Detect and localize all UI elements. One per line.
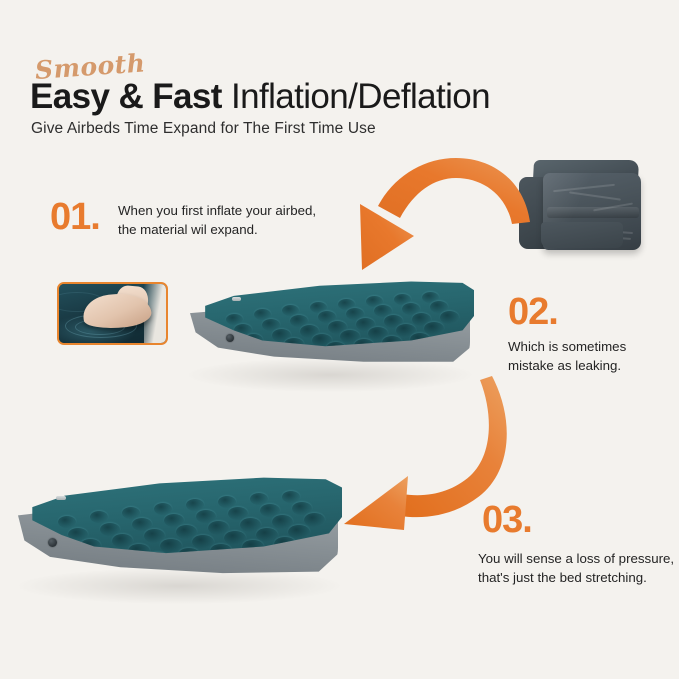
step-text-01: When you first inflate your airbed, the … [118,201,338,239]
airbed-valve [48,538,57,547]
bundle-crease [569,191,621,200]
step-number-02: 02. [508,293,558,331]
arrow-shaft [400,376,507,517]
airbed-valve [226,334,234,342]
arrow-step-02-to-03 [336,372,536,532]
folded-airbed-bundle [519,160,643,257]
airbed-shadow [18,568,340,604]
airbed-label-tag [232,297,241,301]
arrow-head [344,476,408,530]
page-title: Easy & Fast Inflation/Deflation [30,76,490,118]
bundle-crease [553,184,615,192]
airbed-label-tag [56,496,66,500]
airbed-bottom [8,468,348,604]
step-text-03: You will sense a loss of pressure, that'… [478,549,678,587]
arrow-head [360,204,414,270]
step-text-02: Which is sometimes mistake as leaking. [508,337,668,375]
arrow-shaft [378,158,530,224]
bundle-band [547,207,639,218]
foot-on-airbed-photo [57,282,168,345]
page-title-regular: Inflation/Deflation [222,77,490,116]
arrow-step-01-to-02 [352,152,532,280]
infographic-canvas: Smooth Easy & Fast Inflation/Deflation G… [0,0,679,679]
page-subtitle: Give Airbeds Time Expand for The First T… [31,120,376,138]
page-title-bold: Easy & Fast [30,77,222,116]
bundle-bottom-fold [541,222,623,248]
step-number-01: 01. [50,198,100,236]
